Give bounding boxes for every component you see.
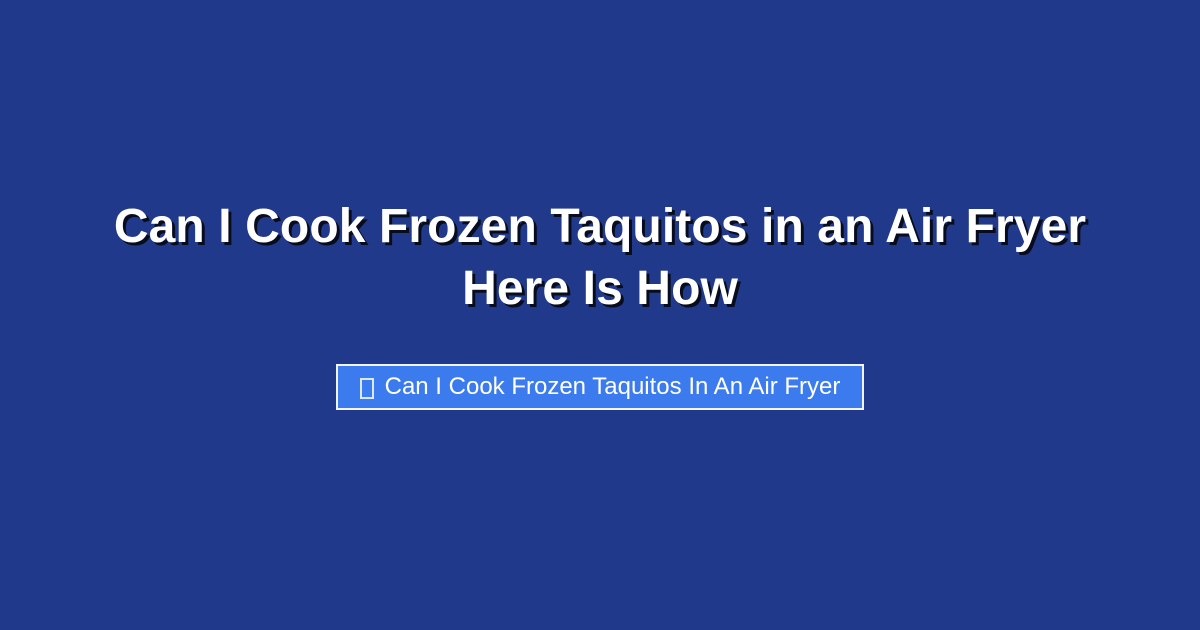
cta-container: Can I Cook Frozen Taquitos In An Air Fry… [0, 364, 1200, 410]
page-title: Can I Cook Frozen Taquitos in an Air Fry… [80, 196, 1120, 320]
cta-button-label: Can I Cook Frozen Taquitos In An Air Fry… [385, 375, 841, 399]
social-preview-card: Can I Cook Frozen Taquitos in an Air Fry… [0, 0, 1200, 630]
missing-glyph-box-icon [360, 378, 374, 399]
card-content-stack: Can I Cook Frozen Taquitos in an Air Fry… [0, 196, 1200, 410]
cta-button[interactable]: Can I Cook Frozen Taquitos In An Air Fry… [336, 364, 865, 410]
